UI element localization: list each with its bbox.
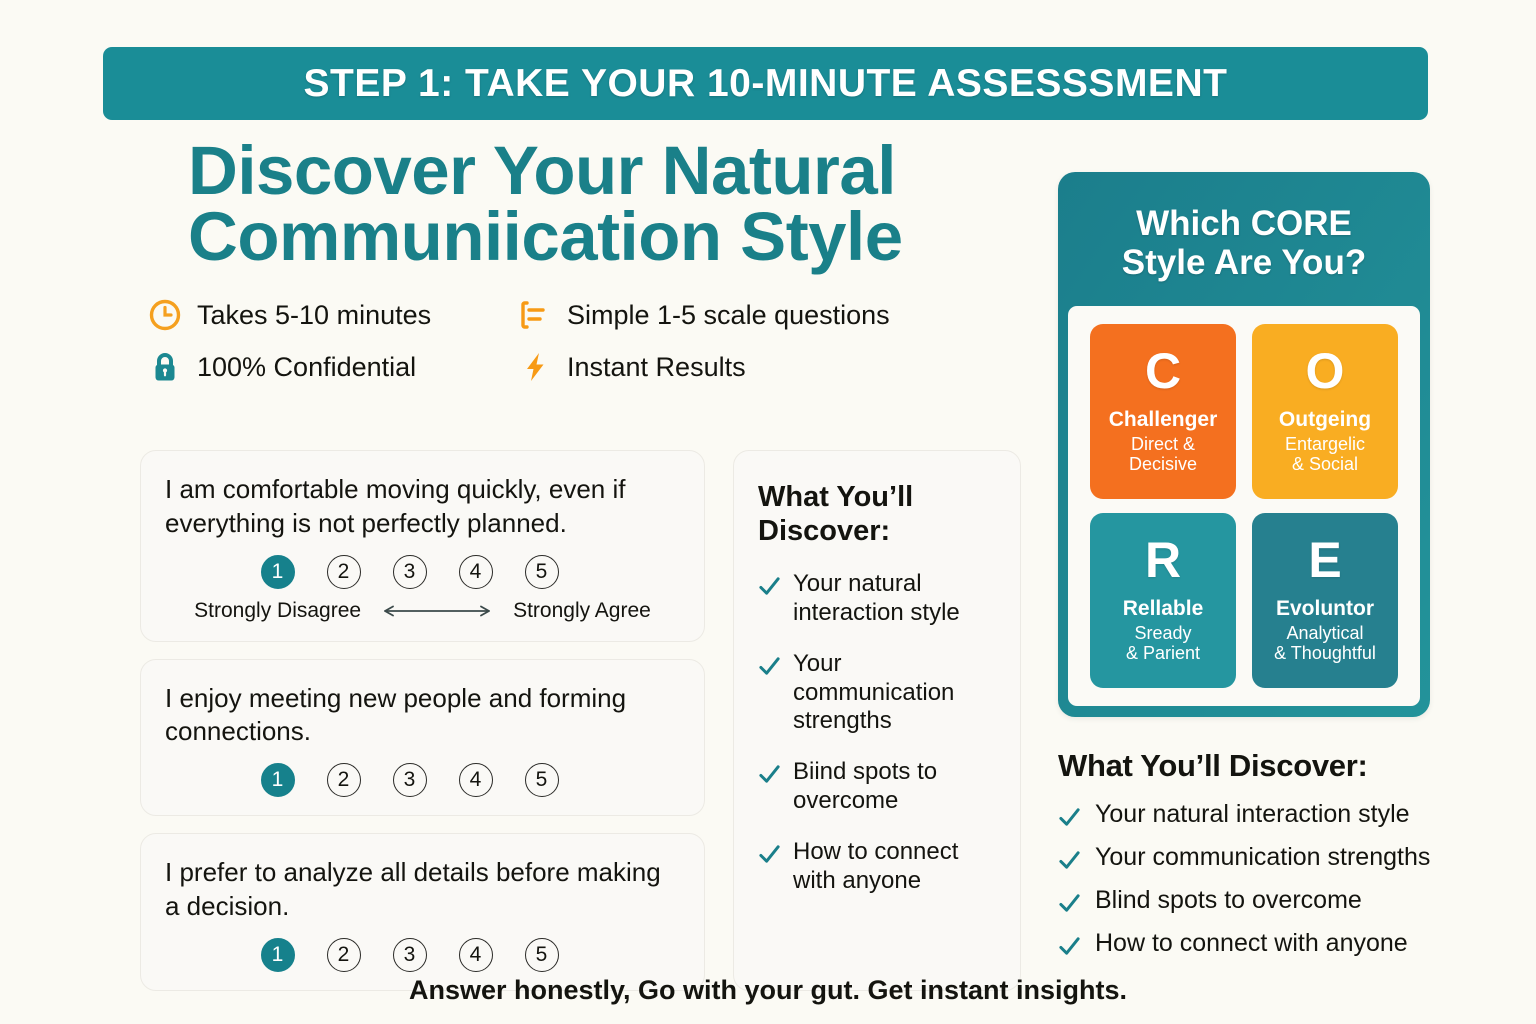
lock-icon	[148, 350, 182, 384]
scale-option-3[interactable]: 3	[393, 763, 427, 797]
core-tile-letter: O	[1306, 346, 1345, 396]
core-tile-letter: R	[1145, 535, 1181, 585]
right-discover-title: What You’ll Discover:	[1058, 748, 1488, 784]
check-icon	[758, 575, 781, 598]
scale-option-3[interactable]: 3	[393, 938, 427, 972]
core-tile-reliable[interactable]: R Rellable Sready & Parient	[1090, 513, 1236, 688]
core-tile-name: Challenger	[1109, 408, 1218, 431]
core-tile-challenger[interactable]: C Challenger Direct & Decisive	[1090, 324, 1236, 499]
core-tile-desc-line-2: Decisive	[1129, 454, 1197, 475]
list-item: How to connect with anyone	[1058, 929, 1488, 958]
likert-scale[interactable]: 1 2 3 4 5	[165, 763, 680, 797]
scale-option-1[interactable]: 1	[261, 555, 295, 589]
list-item: Your communication strengths	[1058, 843, 1488, 872]
list-item-label: How to connect with anyone	[1095, 929, 1408, 958]
question-list: I am comfortable moving quickly, even if…	[140, 450, 705, 991]
scale-anchor-low: Strongly Disagree	[194, 599, 361, 623]
list-item-label: How to connect with anyone	[793, 838, 998, 896]
list-item-label: Your communication strengths	[793, 650, 998, 736]
core-tile-name: Outgeing	[1279, 408, 1371, 431]
scale-option-2[interactable]: 2	[327, 555, 361, 589]
scale-option-4[interactable]: 4	[459, 555, 493, 589]
question-card[interactable]: I am comfortable moving quickly, even if…	[140, 450, 705, 642]
list-icon	[518, 298, 552, 332]
core-tile-outgoing[interactable]: O Outgeing Entargelic & Social	[1252, 324, 1398, 499]
discover-panel: What You’ll Discover: Your natural inter…	[733, 450, 1021, 991]
discover-panel-title: What You’ll Discover:	[758, 481, 998, 548]
core-tile-desc-line-2: & Parient	[1126, 643, 1200, 664]
core-tile-letter: C	[1145, 346, 1181, 396]
scale-option-2[interactable]: 2	[327, 763, 361, 797]
core-tile-desc: Analytical & Thoughtful	[1274, 623, 1376, 665]
scale-anchor-high: Strongly Agree	[513, 599, 651, 623]
core-tile-letter: E	[1308, 535, 1341, 585]
question-text: I enjoy meeting new people and forming c…	[165, 682, 680, 750]
feature-label: Takes 5-10 minutes	[197, 300, 431, 331]
feature-label: Instant Results	[567, 352, 746, 383]
scale-option-5[interactable]: 5	[525, 938, 559, 972]
list-item: How to connect with anyone	[758, 838, 998, 896]
feature-item-takes-minutes: Takes 5-10 minutes	[148, 298, 518, 332]
list-item-label: Your communication strengths	[1095, 843, 1430, 872]
feature-item-instant-results: Instant Results	[518, 350, 1030, 384]
list-item: Biind spots to overcome	[758, 758, 998, 816]
feature-label: Simple 1-5 scale questions	[567, 300, 890, 331]
hero-section: Discover Your Natural Communiication Sty…	[140, 138, 1030, 384]
feature-label: 100% Confidential	[197, 352, 416, 383]
core-card-title: Which CORE Style Are You?	[1068, 182, 1420, 306]
scale-option-4[interactable]: 4	[459, 938, 493, 972]
feature-list: Takes 5-10 minutes Simple 1-5 scale ques…	[140, 298, 1030, 384]
check-icon	[758, 655, 781, 678]
list-item-label: Blind spots to overcome	[1095, 886, 1362, 915]
core-tile-evaluator[interactable]: E Evoluntor Analytical & Thoughtful	[1252, 513, 1398, 688]
core-tile-desc-line-2: & Social	[1285, 454, 1365, 475]
check-icon	[1058, 892, 1081, 915]
scale-option-4[interactable]: 4	[459, 763, 493, 797]
core-tile-desc-line-1: Direct &	[1129, 434, 1197, 455]
feature-item-scale-questions: Simple 1-5 scale questions	[518, 298, 1030, 332]
scale-option-5[interactable]: 5	[525, 763, 559, 797]
likert-scale[interactable]: 1 2 3 4 5	[165, 555, 680, 589]
list-item: Your natural interaction style	[758, 570, 998, 628]
core-style-card: Which CORE Style Are You? C Challenger D…	[1058, 172, 1430, 717]
list-item: Your communication strengths	[758, 650, 998, 736]
core-tile-grid: C Challenger Direct & Decisive O Outgein…	[1068, 306, 1420, 706]
scale-option-1[interactable]: 1	[261, 938, 295, 972]
check-icon	[1058, 935, 1081, 958]
core-card-title-line-1: Which CORE	[1078, 204, 1410, 243]
core-tile-name: Evoluntor	[1276, 597, 1374, 620]
question-text: I prefer to analyze all details before m…	[165, 856, 680, 924]
question-text: I am comfortable moving quickly, even if…	[165, 473, 680, 541]
double-arrow-icon	[377, 604, 497, 618]
scale-option-2[interactable]: 2	[327, 938, 361, 972]
core-tile-desc: Sready & Parient	[1126, 623, 1200, 665]
page-title: Discover Your Natural Communiication Sty…	[140, 138, 1030, 270]
list-item: Blind spots to overcome	[1058, 886, 1488, 915]
scale-anchors: Strongly Disagree Strongly Agree	[165, 599, 680, 623]
page-title-line-2: Communiication Style	[188, 204, 1030, 270]
check-icon	[758, 843, 781, 866]
core-tile-desc: Direct & Decisive	[1129, 434, 1197, 476]
feature-item-confidential: 100% Confidential	[148, 350, 518, 384]
core-tile-desc-line-1: Entargelic	[1285, 434, 1365, 455]
question-card[interactable]: I prefer to analyze all details before m…	[140, 833, 705, 991]
clock-icon	[148, 298, 182, 332]
right-discover-items: Your natural interaction style Your comm…	[1058, 800, 1488, 958]
list-item-label: Your natural interaction style	[1095, 800, 1410, 829]
scale-option-5[interactable]: 5	[525, 555, 559, 589]
list-item: Your natural interaction style	[1058, 800, 1488, 829]
discover-panel-list: Your natural interaction style Your comm…	[758, 570, 998, 895]
scale-option-1[interactable]: 1	[261, 763, 295, 797]
scale-option-3[interactable]: 3	[393, 555, 427, 589]
right-discover-list: What You’ll Discover: Your natural inter…	[1058, 748, 1488, 958]
core-card-title-line-2: Style Are You?	[1078, 243, 1410, 282]
list-item-label: Biind spots to overcome	[793, 758, 998, 816]
core-tile-desc: Entargelic & Social	[1285, 434, 1365, 476]
check-icon	[1058, 806, 1081, 829]
page-title-line-1: Discover Your Natural	[188, 138, 1030, 204]
check-icon	[1058, 849, 1081, 872]
likert-scale[interactable]: 1 2 3 4 5	[165, 938, 680, 972]
step-header-banner: STEP 1: TAKE YOUR 10-MINUTE ASSESSSMENT	[103, 47, 1428, 120]
check-icon	[758, 763, 781, 786]
core-tile-desc-line-1: Analytical	[1274, 623, 1376, 644]
footer-tagline: Answer honestly, Go with your gut. Get i…	[0, 975, 1536, 1006]
core-tile-name: Rellable	[1123, 597, 1204, 620]
lightning-icon	[518, 350, 552, 384]
list-item-label: Your natural interaction style	[793, 570, 998, 628]
question-card[interactable]: I enjoy meeting new people and forming c…	[140, 659, 705, 817]
step-header-title: STEP 1: TAKE YOUR 10-MINUTE ASSESSSMENT	[304, 62, 1228, 106]
core-tile-desc-line-2: & Thoughtful	[1274, 643, 1376, 664]
core-tile-desc-line-1: Sready	[1126, 623, 1200, 644]
assessment-area: I am comfortable moving quickly, even if…	[140, 450, 1030, 991]
